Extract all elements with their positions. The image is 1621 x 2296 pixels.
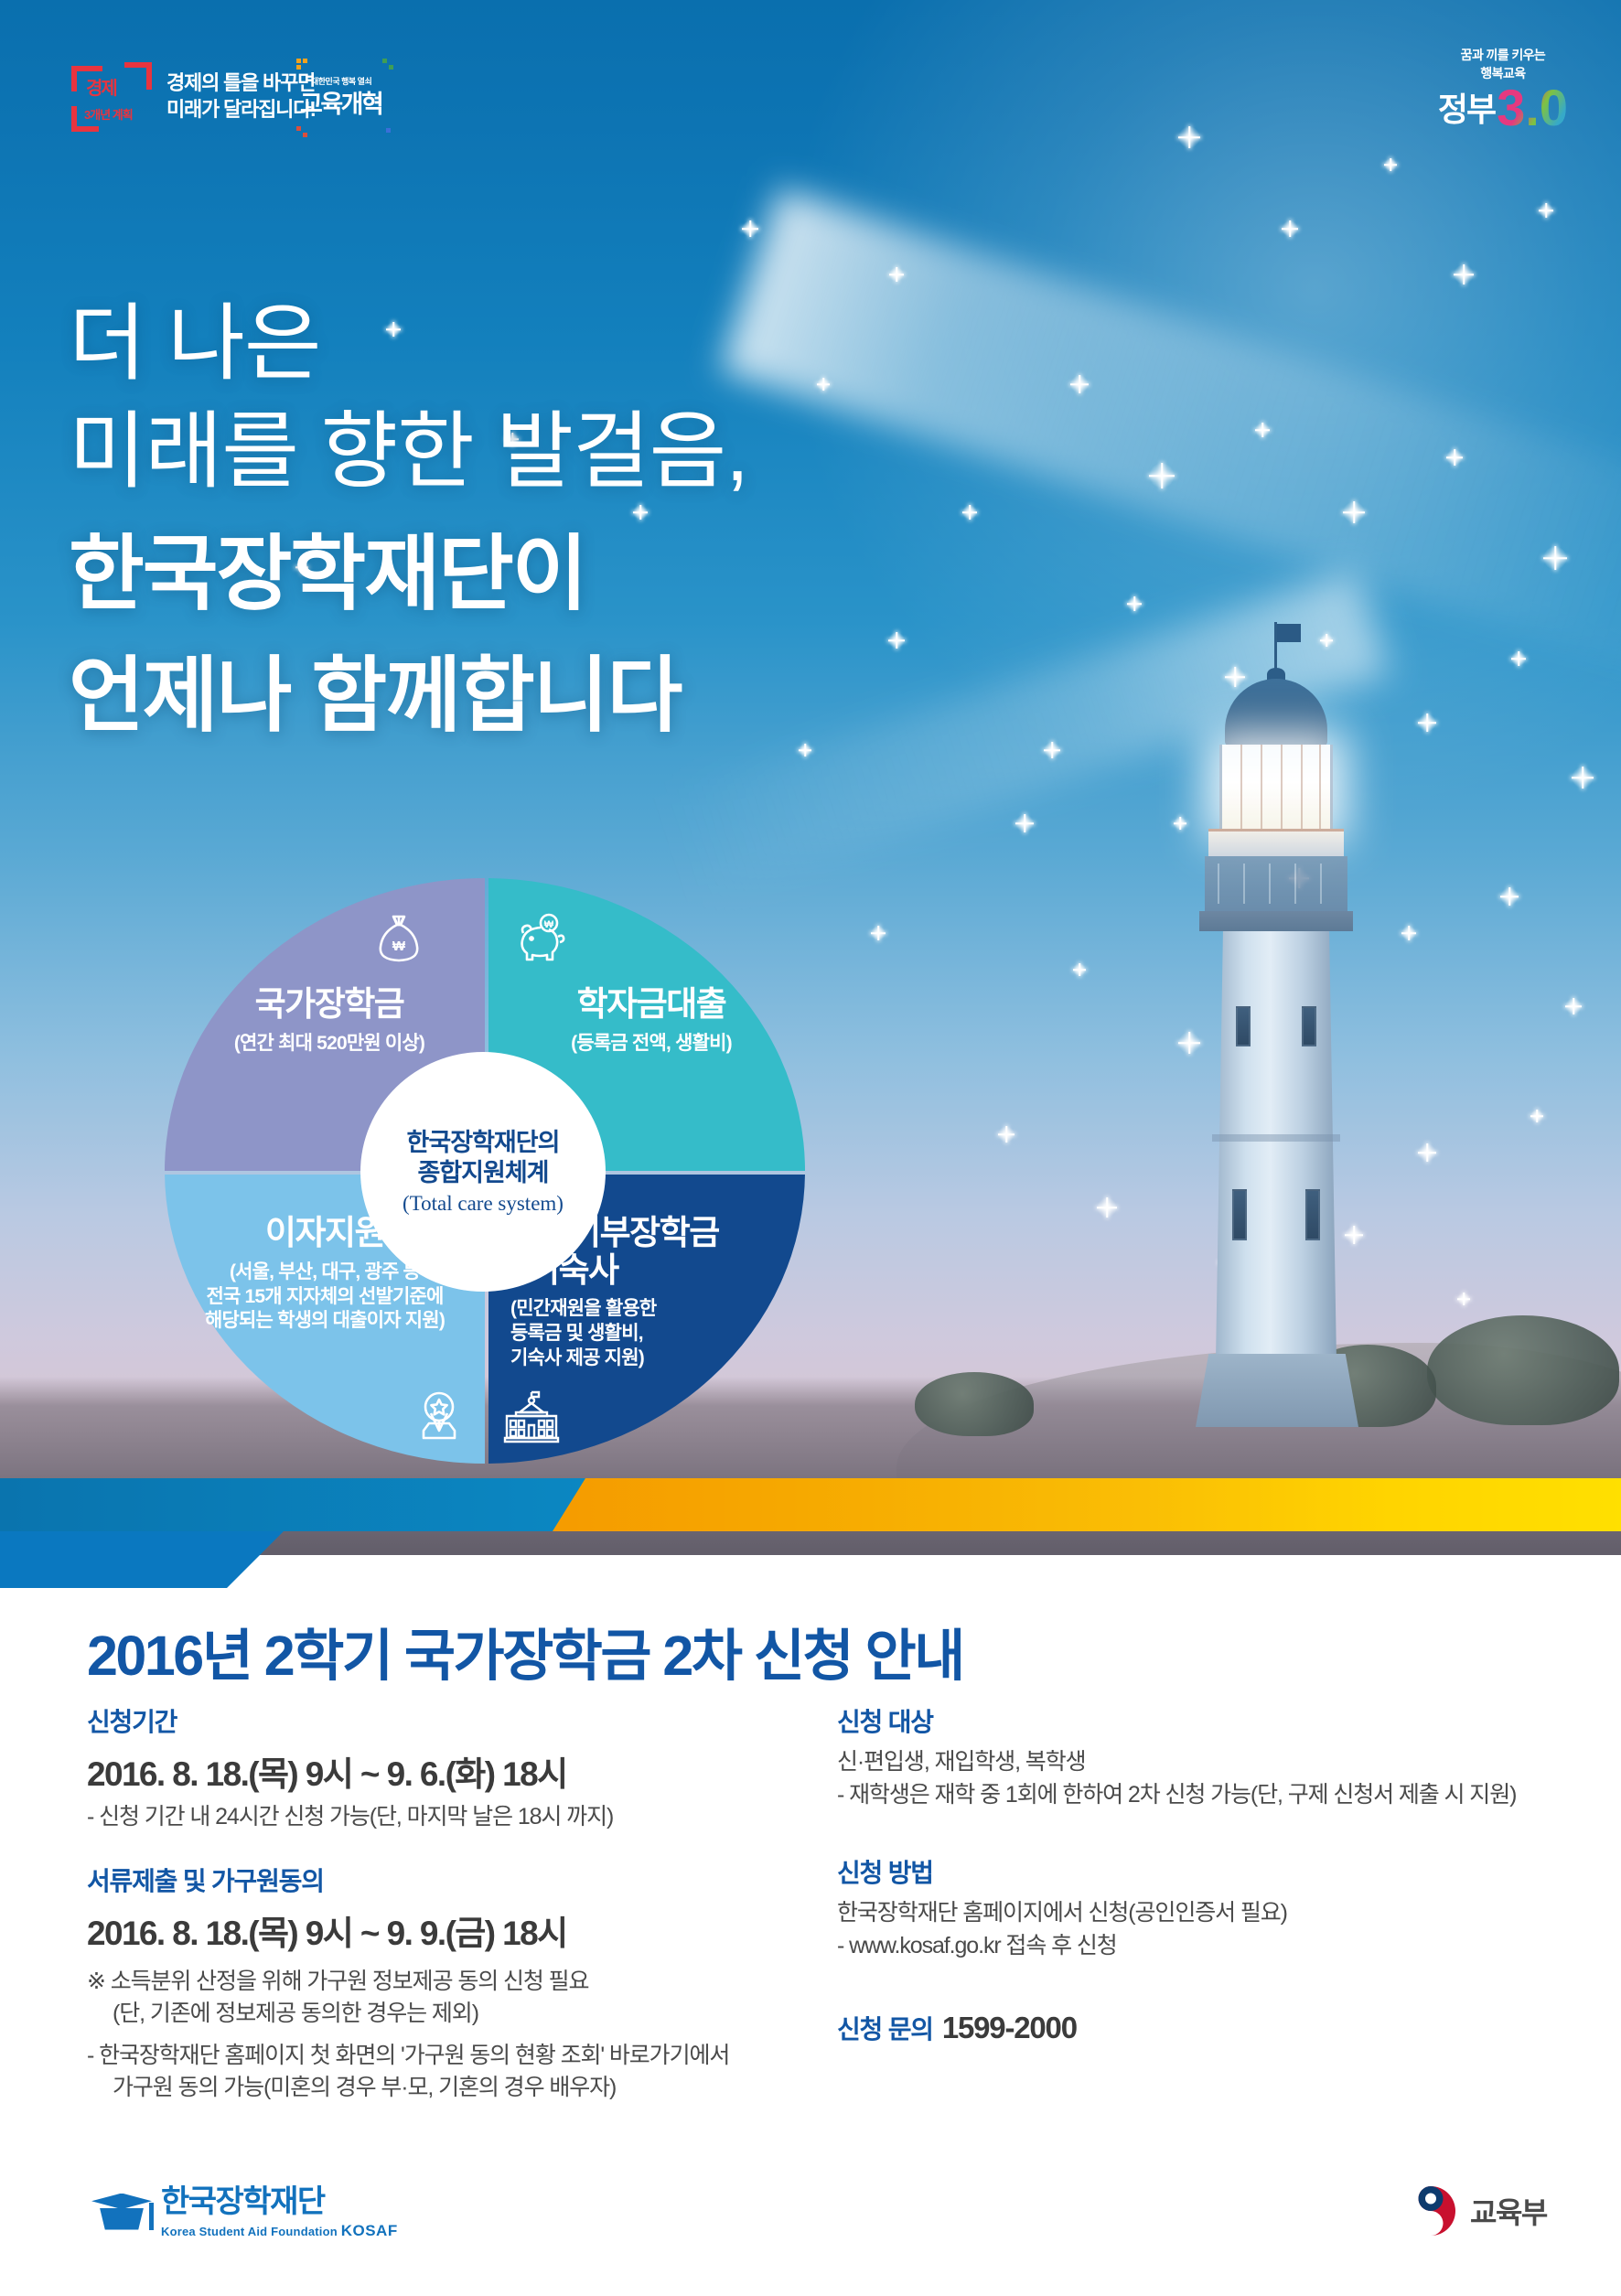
- star-sparkle: [888, 632, 905, 649]
- info-block-contact: 신청 문의 1599-2000: [837, 2010, 1569, 2046]
- block-note-1: - 신청 기간 내 24시간 신청 가능(단, 마지막 날은 18시 까지): [87, 1801, 810, 1834]
- star-sparkle: [817, 378, 830, 391]
- graduation-cap-icon: [91, 2190, 152, 2237]
- star-sparkle: [871, 926, 886, 940]
- info-block-application-period: 신청기간 2016. 8. 18.(목) 9시 ~ 9. 6.(화) 18시 -…: [87, 1702, 810, 1834]
- star-sparkle: [1530, 1110, 1543, 1122]
- star-sparkle: [1500, 887, 1519, 906]
- info-column-right: 신청 대상 신·편입생, 재입학생, 복학생 - 재학생은 재학 중 1회에 한…: [837, 1702, 1569, 2074]
- quadrant-title: 국가장학금: [183, 986, 476, 1024]
- contact-heading: 신청 문의: [837, 2010, 933, 2046]
- decorative-band: [0, 1478, 1621, 1588]
- bush-1: [1427, 1315, 1619, 1425]
- economy-innovation-logo: 경제 3개년 계획 경제의 틀을 바꾸면 미래가 달라집니다.: [71, 62, 315, 132]
- star-sparkle: [1255, 423, 1270, 437]
- government-30-logo: 꿈과 끼를 키우는 행복교육 정부 3.0: [1438, 48, 1568, 131]
- star-sparkle: [799, 744, 811, 756]
- gov30-version-number: 3.0: [1497, 85, 1568, 131]
- star-sparkle: [1178, 126, 1200, 148]
- band-blue-stripe-top: [0, 1478, 585, 1531]
- block-note-1: 한국장학재단 홈페이지에서 신청(공인인증서 필요): [837, 1897, 1569, 1930]
- info-block-eligibility: 신청 대상 신·편입생, 재입학생, 복학생 - 재학생은 재학 중 1회에 한…: [837, 1702, 1569, 1811]
- economy-bracket-icon: 경제 3개년 계획: [71, 62, 152, 132]
- kosaf-korean-name: 한국장학재단: [161, 2186, 398, 2217]
- quadrant-label-student-loan: 학자금대출 (등록금 전액, 생활비): [505, 986, 798, 1057]
- ministry-of-education-label: 교육부: [1470, 2190, 1547, 2232]
- quadrant-subtitle-line2: 등록금 및 생활비,: [510, 1322, 796, 1346]
- block-note-1: ※ 소득분위 산정을 위해 가구원 정보제공 동의 신청 필요: [87, 1966, 810, 1999]
- kosaf-english-name: Korea Student Aid Foundation KOSAF: [161, 2222, 398, 2240]
- lighthouse-gallery-lower: [1205, 856, 1347, 913]
- star-sparkle: [1543, 546, 1567, 570]
- star-sparkle: [1418, 1143, 1436, 1162]
- quadrant-subtitle: (연간 최대 520만원 이상): [183, 1032, 476, 1057]
- star-sparkle: [1343, 501, 1365, 523]
- info-block-document-submission: 서류제출 및 가구원동의 2016. 8. 18.(목) 9시 ~ 9. 9.(…: [87, 1861, 810, 2105]
- lighthouse-dome: [1225, 679, 1327, 746]
- gov30-korean-label: 정부: [1438, 83, 1495, 131]
- piggy-bank-icon: ₩: [514, 913, 569, 969]
- block-date-range: 2016. 8. 18.(목) 9시 ~ 9. 9.(금) 18시: [87, 1905, 810, 1955]
- economy-slogan-line2: 미래가 달라집니다.: [166, 97, 315, 123]
- block-note-1: 신·편입생, 재입학생, 복학생: [837, 1746, 1569, 1779]
- gov30-tagline-line1: 꿈과 끼를 키우는: [1438, 48, 1568, 64]
- svg-text:₩: ₩: [392, 939, 406, 954]
- pixel-deco-6: [296, 126, 301, 131]
- kosaf-abbreviation: KOSAF: [341, 2222, 398, 2239]
- pixel-deco-8: [386, 128, 391, 133]
- block-note-3: - 한국장학재단 홈페이지 첫 화면의 '가구원 동의 현황 조회' 바로가기에…: [87, 2040, 810, 2073]
- economy-mark-line1: 경제: [86, 73, 116, 100]
- lighthouse-lantern: [1219, 745, 1333, 829]
- ministry-of-education-logo: 교육부: [1404, 2184, 1547, 2237]
- lighthouse-base: [1196, 1354, 1358, 1427]
- pixel-deco-2: [303, 59, 307, 63]
- quadrant-title: 학자금대출: [505, 986, 798, 1024]
- lighthouse-tower: [1216, 931, 1337, 1361]
- headline-light-line2: 미래를 향한 발걸음,: [69, 399, 748, 507]
- star-sparkle: [998, 1126, 1014, 1143]
- star-sparkle: [1511, 651, 1526, 666]
- star-sparkle: [1572, 767, 1594, 789]
- lighthouse-flag: [1277, 624, 1301, 642]
- center-line2: 종합지원체계: [417, 1158, 548, 1188]
- star-sparkle: [1384, 158, 1397, 171]
- lighthouse-gallery-upper: [1208, 829, 1344, 856]
- money-bag-icon: ₩: [373, 913, 424, 971]
- block-heading: 신청기간: [87, 1702, 810, 1739]
- lighthouse: [1148, 622, 1404, 1427]
- band-orange-stripe: [549, 1478, 1621, 1531]
- star-sparkle: [1446, 449, 1463, 466]
- star-sparkle: [1457, 1293, 1470, 1305]
- block-note-2: - 재학생은 재학 중 1회에 한하여 2차 신청 가능(단, 구제 신청서 제…: [837, 1779, 1569, 1812]
- band-blue-stripe-bottom: [0, 1531, 284, 1588]
- info-block-how-to-apply: 신청 방법 한국장학재단 홈페이지에서 신청(공인인증서 필요) - www.k…: [837, 1853, 1569, 1962]
- star-sparkle: [1070, 375, 1089, 393]
- hero-headline: 더 나은 미래를 향한 발걸음, 한국장학재단이 언제나 함께합니다: [69, 291, 748, 750]
- economy-slogan-line1: 경제의 틀을 바꾸면: [166, 70, 315, 97]
- pixel-deco-4: [382, 59, 387, 63]
- block-heading: 신청 방법: [837, 1853, 1569, 1890]
- block-note-4: 가구원 동의 가능(미혼의 경우 부·모, 기혼의 경우 배우자): [87, 2072, 810, 2105]
- website-link[interactable]: - www.kosaf.go.kr 접속 후 신청: [837, 1930, 1569, 1963]
- quadrant-subtitle-line3: 해당되는 학생의 대출이자 지원): [174, 1309, 476, 1334]
- headline-light-line1: 더 나은: [69, 291, 748, 399]
- star-sparkle: [1418, 713, 1436, 732]
- taegeuk-icon: [1404, 2184, 1457, 2237]
- star-sparkle: [1539, 203, 1553, 218]
- economy-mark-line3: 3개년 계획: [84, 105, 133, 123]
- star-sparkle: [1565, 998, 1582, 1014]
- lighthouse-window-4: [1305, 1189, 1320, 1240]
- star-sparkle: [742, 220, 758, 237]
- headline-bold-line2: 언제나 함께합니다: [69, 643, 748, 750]
- building-icon: [503, 1390, 560, 1448]
- star-sparkle: [1127, 596, 1142, 611]
- lighthouse-window-1: [1236, 1006, 1251, 1046]
- contact-phone-number[interactable]: 1599-2000: [942, 2011, 1077, 2045]
- education-reform-title: 교육개혁: [300, 84, 381, 120]
- star-sparkle: [889, 267, 904, 282]
- lighthouse-band: [1212, 1134, 1340, 1142]
- block-heading: 서류제출 및 가구원동의: [87, 1861, 810, 1898]
- star-sparkle: [1073, 963, 1086, 976]
- block-heading: 신청 대상: [837, 1702, 1569, 1739]
- lighthouse-window-3: [1232, 1189, 1247, 1240]
- hero-photo: 경제 3개년 계획 경제의 틀을 바꾸면 미래가 달라집니다. 대한민국 행복 …: [0, 0, 1621, 1555]
- education-reform-logo: 대한민국 행복 열쇠 교육개혁: [295, 57, 395, 139]
- poster-root: 경제 3개년 계획 경제의 틀을 바꾸면 미래가 달라집니다. 대한민국 행복 …: [0, 0, 1621, 2296]
- pixel-deco-7: [303, 133, 307, 137]
- pixel-deco-1: [296, 59, 301, 63]
- pixel-deco-5: [389, 65, 393, 70]
- star-sparkle: [1044, 742, 1060, 758]
- quadrant-subtitle: (등록금 전액, 생활비): [505, 1032, 798, 1057]
- center-english: (Total care system): [403, 1192, 564, 1216]
- pixel-deco-3: [296, 65, 301, 70]
- lighthouse-window-2: [1302, 1006, 1316, 1046]
- star-sparkle: [1454, 264, 1474, 284]
- center-line1: 한국장학재단의: [407, 1128, 560, 1158]
- info-column-left: 신청기간 2016. 8. 18.(목) 9시 ~ 9. 6.(화) 18시 -…: [87, 1702, 810, 2132]
- quadrant-label-national-scholarship: 국가장학금 (연간 최대 520만원 이상): [183, 986, 476, 1057]
- wheel-center-label: 한국장학재단의 종합지원체계 (Total care system): [360, 1052, 606, 1292]
- lighthouse-cornice: [1199, 911, 1353, 931]
- info-section-title: 2016년 2학기 국가장학금 2차 신청 안내: [87, 1610, 963, 1691]
- star-sparkle: [1015, 814, 1034, 832]
- map-pin-star-icon: [413, 1390, 465, 1450]
- quadrant-subtitle-line2: 전국 15개 지자체의 선발기준에: [174, 1285, 476, 1310]
- block-date-range: 2016. 8. 18.(목) 9시 ~ 9. 6.(화) 18시: [87, 1746, 810, 1796]
- support-system-wheel: ₩ ₩: [165, 878, 805, 1464]
- headline-bold-line1: 한국장학재단이: [69, 521, 748, 628]
- star-sparkle: [1149, 463, 1175, 488]
- star-sparkle: [962, 505, 977, 520]
- kosaf-logo: 한국장학재단 Korea Student Aid Foundation KOSA…: [91, 2186, 398, 2240]
- kosaf-english-full: Korea Student Aid Foundation: [161, 2225, 338, 2238]
- star-sparkle: [1097, 1197, 1117, 1218]
- quadrant-subtitle-line3: 기숙사 제공 지원): [510, 1346, 796, 1371]
- block-note-2: (단, 기존에 정보제공 동의한 경우는 제외): [87, 1998, 810, 2031]
- star-sparkle: [1282, 220, 1298, 237]
- quadrant-subtitle-line1: (민간재원을 활용한: [510, 1297, 796, 1322]
- bush-3: [915, 1372, 1034, 1436]
